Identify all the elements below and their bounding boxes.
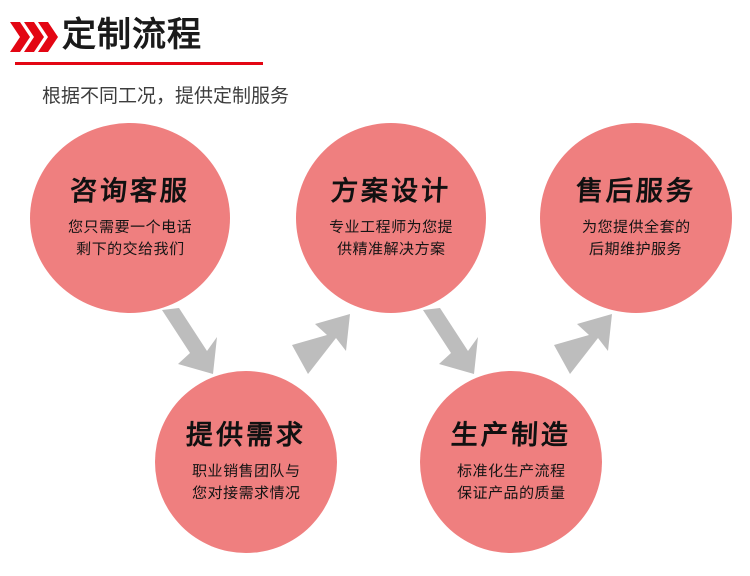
arrow-down-right-icon (418, 307, 482, 382)
triple-chevron-right-icon (10, 20, 58, 54)
step-desc-line-1: 职业销售团队与 (191, 461, 300, 483)
step-heading: 售后服务 (575, 175, 697, 207)
title-underline (15, 62, 263, 65)
step-desc-line-1: 专业工程师为您提 (329, 217, 454, 239)
step-heading: 咨询客服 (69, 175, 191, 207)
step-heading: 方案设计 (330, 175, 452, 207)
step-desc-line-1: 为您提供全套的 (581, 217, 690, 239)
step-circle-3[interactable]: 方案设计 专业工程师为您提 供精准解决方案 (296, 123, 486, 313)
step-heading: 生产制造 (450, 419, 572, 451)
step-circle-4[interactable]: 生产制造 标准化生产流程 保证产品的质量 (420, 371, 602, 553)
step-desc-line-1: 您只需要一个电话 (68, 217, 193, 239)
step-circle-2[interactable]: 提供需求 职业销售团队与 您对接需求情况 (155, 371, 337, 553)
step-circle-5[interactable]: 售后服务 为您提供全套的 后期维护服务 (540, 123, 732, 313)
step-desc-line-2: 您对接需求情况 (191, 483, 300, 505)
arrow-up-right-icon (550, 307, 614, 382)
step-desc-line-2: 后期维护服务 (589, 239, 683, 261)
step-desc-line-2: 剩下的交给我们 (75, 239, 184, 261)
page-header: 定制流程 (0, 0, 750, 70)
customization-process-infographic: 定制流程 根据不同工况，提供定制服务 咨询客服 您只需要一个电话 剩下的交给我们… (0, 0, 750, 576)
step-circle-1[interactable]: 咨询客服 您只需要一个电话 剩下的交给我们 (30, 123, 230, 313)
arrow-up-right-icon (288, 307, 352, 382)
page-subtitle: 根据不同工况，提供定制服务 (42, 84, 289, 110)
step-desc-line-2: 保证产品的质量 (456, 483, 565, 505)
step-heading: 提供需求 (185, 419, 307, 451)
page-title: 定制流程 (62, 13, 202, 57)
arrow-down-right-icon (157, 307, 221, 382)
step-desc-line-1: 标准化生产流程 (456, 461, 565, 483)
step-desc-line-2: 供精准解决方案 (336, 239, 445, 261)
